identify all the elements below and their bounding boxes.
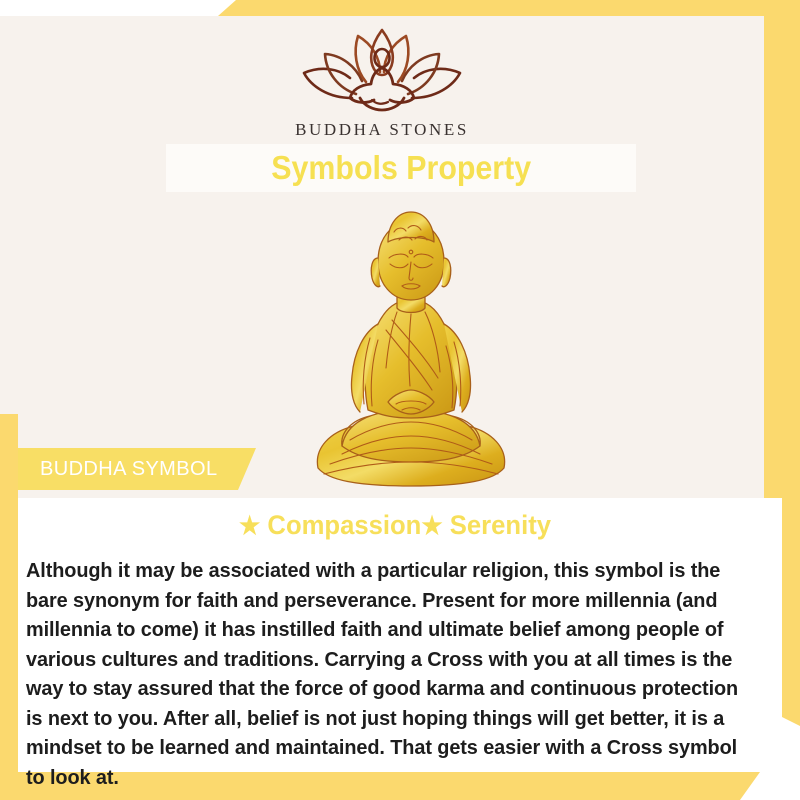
poster-root: BUDDHA STONES Symbols Property bbox=[0, 0, 800, 800]
subheading-word-two: Serenity bbox=[450, 510, 551, 540]
lotus-meditation-icon bbox=[0, 24, 764, 116]
ribbon-label: BUDDHA SYMBOL bbox=[40, 458, 217, 481]
buddha-symbol-ribbon: BUDDHA SYMBOL bbox=[18, 448, 256, 490]
page-title: Symbols Property bbox=[271, 149, 531, 187]
frame-band-top bbox=[218, 0, 800, 16]
frame-band-left bbox=[0, 414, 18, 800]
subheading: ★ Compassion★ Serenity bbox=[20, 510, 771, 541]
buddha-statue-image bbox=[296, 196, 526, 496]
title-plate: Symbols Property bbox=[166, 144, 636, 192]
brand-name: BUDDHA STONES bbox=[0, 120, 764, 140]
subheading-word-one: Compassion bbox=[267, 510, 421, 540]
star-icon-left: ★ bbox=[239, 512, 260, 540]
brand-logo: BUDDHA STONES bbox=[0, 24, 764, 140]
body-paragraph: Although it may be associated with a par… bbox=[26, 556, 752, 792]
star-icon-right: ★ bbox=[421, 512, 442, 540]
